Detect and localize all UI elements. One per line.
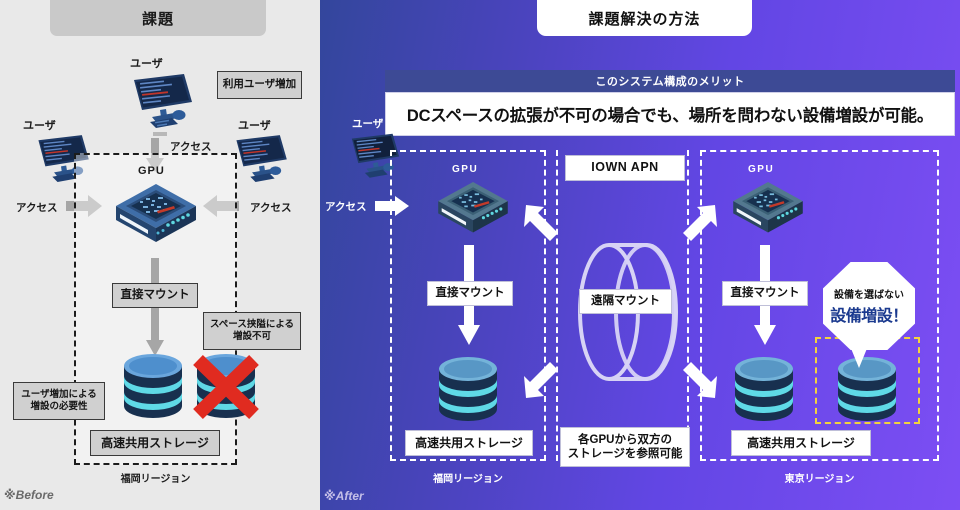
storage-db-icon-tokyo bbox=[731, 355, 797, 423]
callout-line-1: 設備を選ばない bbox=[834, 286, 904, 301]
diagram-root: 課題 ユーザ bbox=[0, 0, 960, 510]
direct-mount-box-tokyo: 直接マウント bbox=[722, 281, 808, 306]
after-region-label-fukuoka: 福岡リージョン bbox=[390, 470, 546, 485]
before-footnote: ※Before bbox=[4, 488, 54, 502]
arrow-diag-up-left bbox=[524, 203, 564, 243]
user-label-top: ユーザ bbox=[130, 55, 163, 71]
callout-tail-icon bbox=[850, 346, 868, 368]
after-panel-title: 課題解決の方法 bbox=[537, 0, 752, 36]
added-equipment-callout: 設備を選ばない 設備増設！ bbox=[823, 262, 915, 350]
storage-db-icon bbox=[120, 352, 186, 420]
callout-line-2: 設備増設！ bbox=[830, 302, 908, 326]
before-region-label: 福岡リージョン bbox=[74, 470, 237, 485]
arrow-diag-down-left bbox=[524, 360, 564, 400]
merit-banner-head: このシステム構成のメリット bbox=[385, 70, 955, 92]
merit-banner: このシステム構成のメリット DCスペースの拡張が不可の場合でも、場所を問わない設… bbox=[385, 70, 955, 136]
storage-db-icon-fukuoka bbox=[435, 355, 501, 423]
before-panel: 課題 ユーザ bbox=[0, 0, 320, 510]
iown-apn-box: IOWN APN bbox=[565, 155, 685, 181]
gpu-server-icon bbox=[110, 180, 202, 250]
cross-mark-icon bbox=[188, 352, 264, 422]
user-label-left: ユーザ bbox=[23, 117, 56, 133]
after-panel: 課題解決の方法 このシステム構成のメリット DCスペースの拡張が不可の場合でも、… bbox=[320, 0, 960, 510]
gpu-server-icon-tokyo bbox=[728, 178, 808, 240]
center-note-box: 各GPUから双方の ストレージを参照可能 bbox=[560, 427, 690, 467]
user-increase-box: 利用ユーザ増加 bbox=[217, 71, 302, 99]
merit-banner-body: DCスペースの拡張が不可の場合でも、場所を問わない設備増設が可能。 bbox=[385, 92, 955, 136]
user-label-after: ユーザ bbox=[352, 116, 383, 131]
user-monitor-icon bbox=[122, 72, 198, 138]
after-footnote: ※After bbox=[324, 489, 364, 503]
remote-mount-box: 遠隔マウント bbox=[579, 289, 672, 314]
gpu-label-tokyo: GPU bbox=[748, 164, 774, 175]
access-label-right: アクセス bbox=[250, 200, 291, 215]
gpu-label-fukuoka: GPU bbox=[452, 164, 478, 175]
storage-label-box-tokyo: 高速共用ストレージ bbox=[731, 430, 871, 456]
after-region-label-tokyo: 東京リージョン bbox=[700, 470, 939, 485]
user-label-right: ユーザ bbox=[238, 117, 271, 133]
before-panel-title: 課題 bbox=[50, 0, 266, 36]
need-expand-box: ユーザ増加による 増設の必要性 bbox=[13, 382, 105, 420]
space-limit-box: スペース挟隘による 増設不可 bbox=[203, 312, 301, 350]
storage-label-box-before: 高速共用ストレージ bbox=[90, 430, 220, 456]
access-label-left: アクセス bbox=[16, 200, 57, 215]
direct-mount-box-before: 直接マウント bbox=[112, 283, 198, 308]
gpu-server-icon-fukuoka bbox=[433, 178, 513, 240]
access-label-top: アクセス bbox=[170, 139, 211, 154]
direct-mount-box-fukuoka: 直接マウント bbox=[427, 281, 513, 306]
gpu-label-before: GPU bbox=[138, 165, 165, 177]
storage-label-box-fukuoka: 高速共用ストレージ bbox=[405, 430, 533, 456]
access-label-after: アクセス bbox=[325, 199, 366, 214]
